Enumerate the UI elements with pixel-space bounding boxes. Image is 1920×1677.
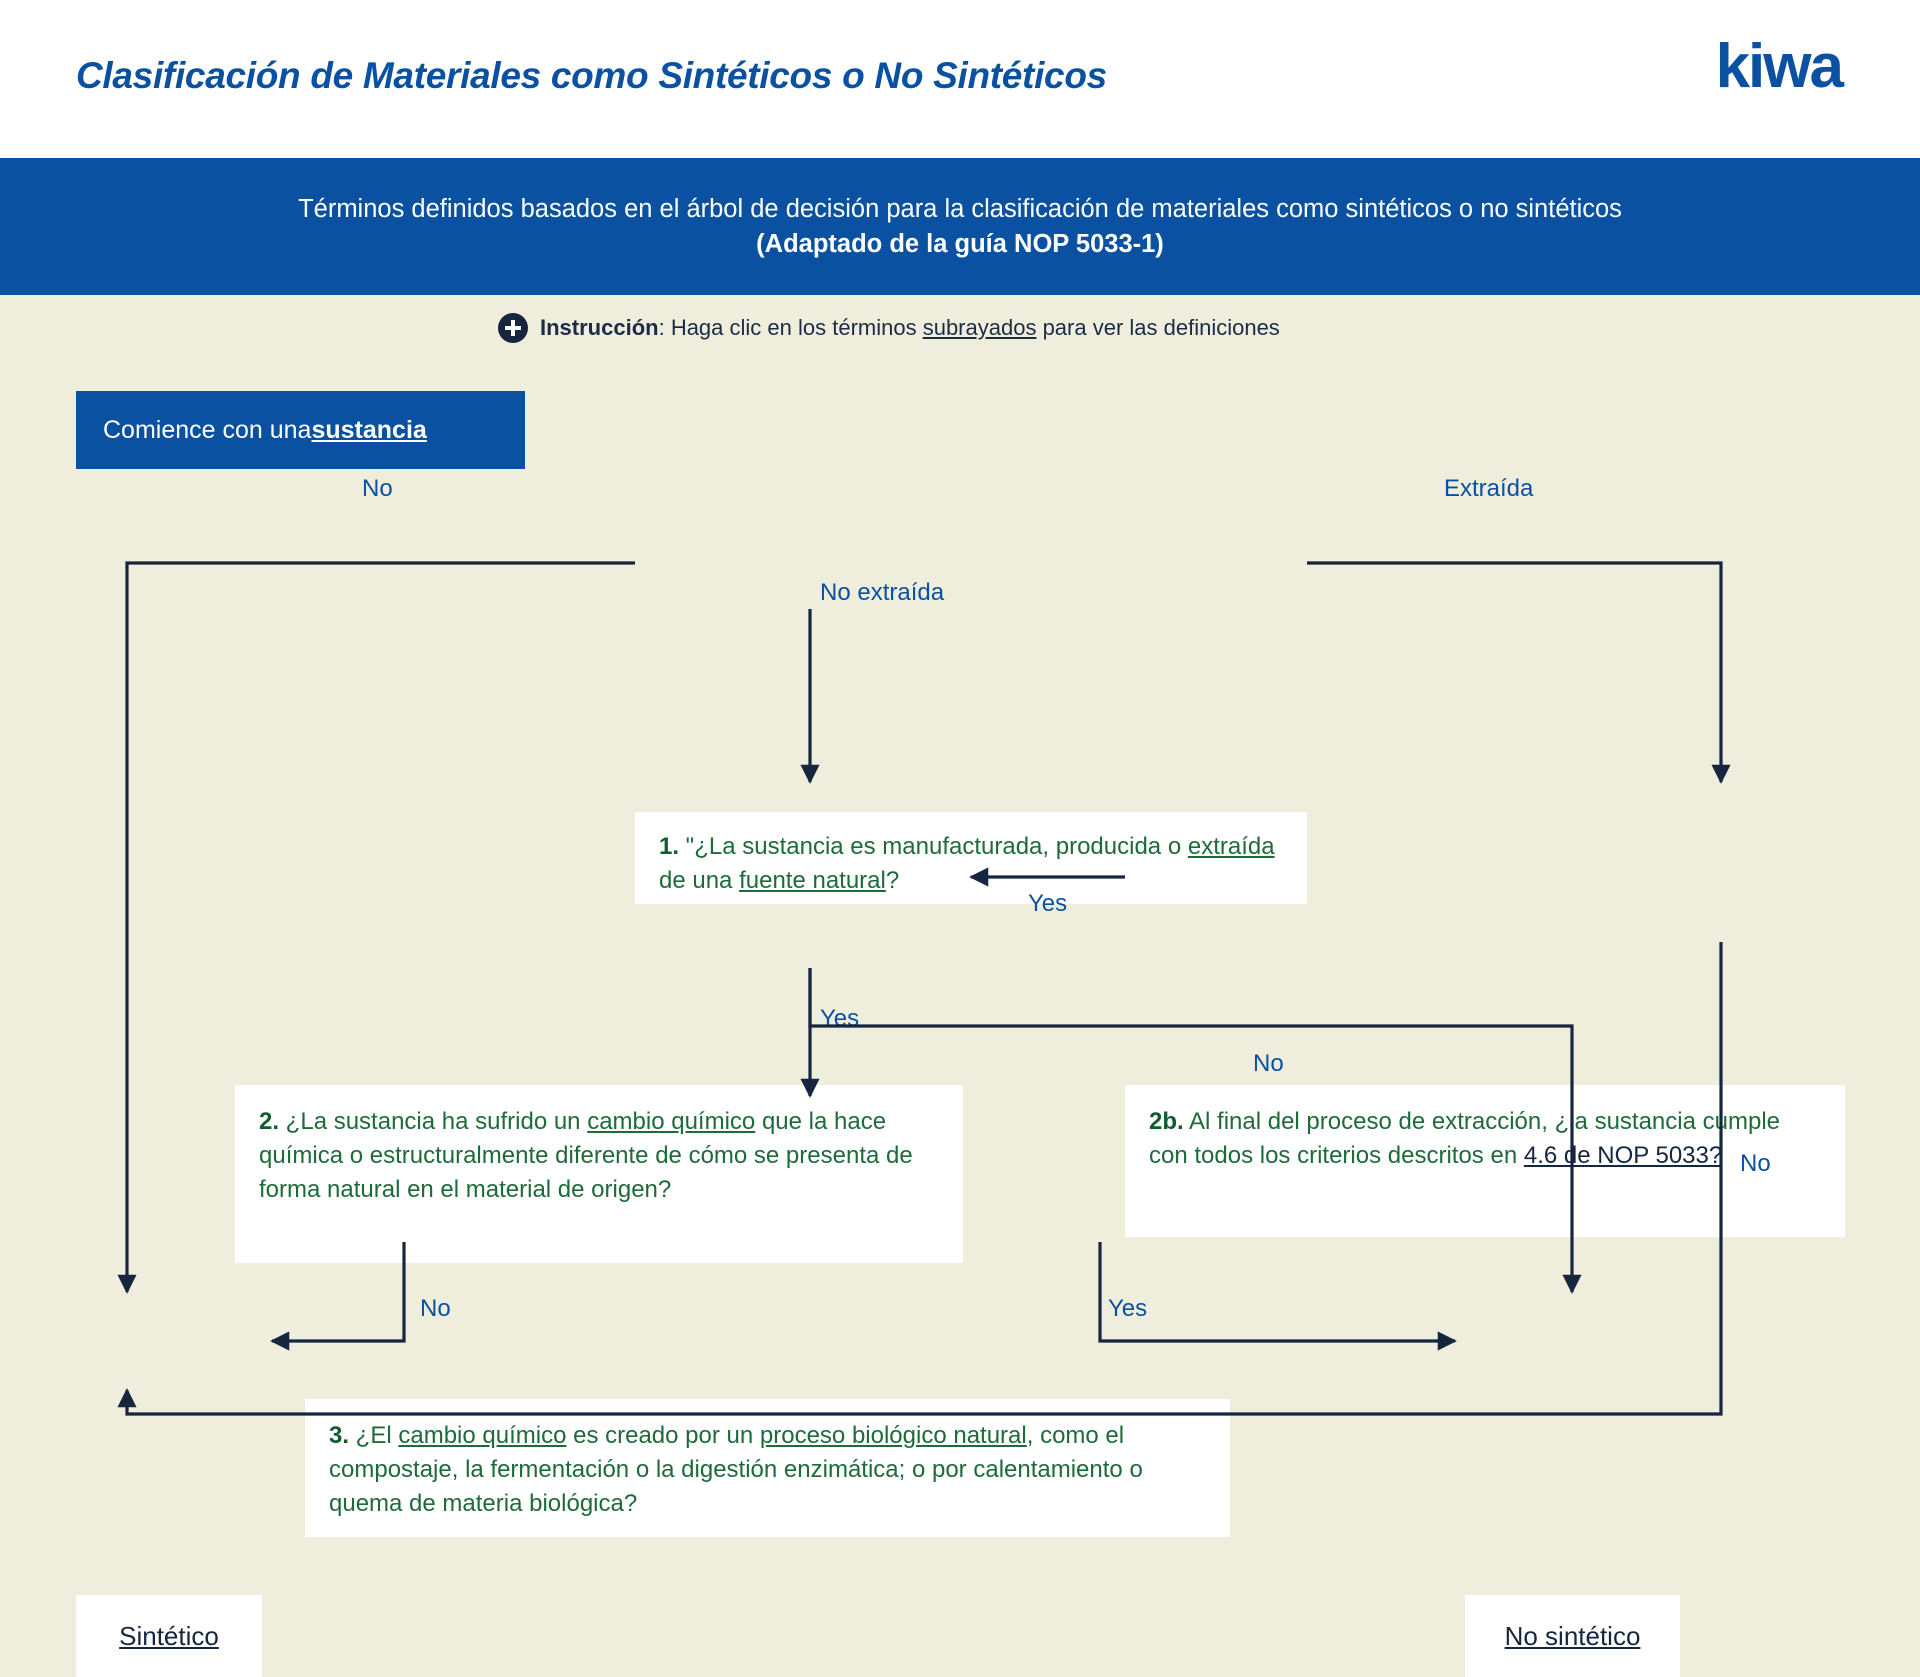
start-prefix: Comience con una <box>103 416 311 445</box>
question-3-seg-2: es creado por un <box>566 1422 759 1449</box>
start-node[interactable]: Comience con una sustancia <box>76 391 525 469</box>
edge-label-q2-yes: Yes <box>820 1005 859 1033</box>
edge-label-q1-extraida: Extraída <box>1444 475 1533 503</box>
page-title: Clasificación de Materiales como Sintéti… <box>76 55 1107 97</box>
edge-label-q1-no: No <box>362 475 393 503</box>
kiwa-logo: kiwa <box>1716 36 1842 98</box>
question-1-seg-2: de una <box>659 867 739 894</box>
subtitle-banner: Términos definidos basados en el árbol d… <box>0 158 1920 295</box>
question-3-number: 3. <box>329 1422 349 1449</box>
edge-label-q3-no: No <box>420 1295 451 1323</box>
question-1-link-extraida[interactable]: extraída <box>1188 833 1275 860</box>
instruction-bar: Instrucción: Haga clic en los términos s… <box>498 313 1280 343</box>
edge-label-q3-yes: Yes <box>1108 1295 1147 1323</box>
outcome-node-non-synthetic[interactable]: No sintético <box>1465 1595 1680 1677</box>
question-2-number: 2. <box>259 1108 279 1135</box>
question-node-2[interactable]: 2. ¿La sustancia ha sufrido un cambio qu… <box>235 1085 963 1263</box>
flowchart-canvas: Instrucción: Haga clic en los términos s… <box>0 295 1920 1465</box>
question-1-seg-0: "¿La sustancia es manufacturada, produci… <box>679 833 1188 860</box>
outcome-node-synthetic[interactable]: Sintético <box>76 1595 262 1677</box>
edge-label-q2b-no: No <box>1253 1050 1284 1078</box>
instruction-link[interactable]: subrayados <box>923 315 1037 340</box>
instruction-separator: : <box>659 315 671 340</box>
instruction-after: para ver las definiciones <box>1036 315 1279 340</box>
edge-label-q2b-yes: Yes <box>1028 890 1067 918</box>
question-2-seg-0: ¿La sustancia ha sufrido un <box>279 1108 587 1135</box>
question-3-link-cambio-quimico[interactable]: cambio químico <box>398 1422 566 1449</box>
start-term-link[interactable]: sustancia <box>311 416 426 445</box>
question-2b-link-nop-5033[interactable]: 4.6 de NOP 5033? <box>1524 1142 1722 1169</box>
banner-line-1: Términos definidos basados en el árbol d… <box>298 192 1622 226</box>
question-2-link-cambio-quimico[interactable]: cambio químico <box>587 1108 755 1135</box>
question-1-seg-4: ? <box>886 867 899 894</box>
question-1-number: 1. <box>659 833 679 860</box>
question-node-1[interactable]: 1. "¿La sustancia es manufacturada, prod… <box>635 812 1307 904</box>
edge-label-q1-no-extraida: No extraída <box>820 579 944 607</box>
outcome-synthetic-label[interactable]: Sintético <box>119 1621 219 1652</box>
question-1-link-fuente-natural[interactable]: fuente natural <box>739 867 886 894</box>
outcome-non-synthetic-label[interactable]: No sintético <box>1505 1621 1641 1652</box>
question-node-2b[interactable]: 2b. Al final del proceso de extracción, … <box>1125 1085 1845 1237</box>
instruction-text: Instrucción: Haga clic en los términos s… <box>540 315 1280 341</box>
question-node-3[interactable]: 3. ¿El cambio químico es creado por un p… <box>305 1399 1230 1537</box>
instruction-before: Haga clic en los términos <box>671 315 923 340</box>
question-3-link-proceso-biologico[interactable]: proceso biológico natural <box>760 1422 1027 1449</box>
question-2b-number: 2b. <box>1149 1108 1184 1135</box>
instruction-label: Instrucción <box>540 315 659 340</box>
plus-circle-icon <box>498 313 528 343</box>
question-3-seg-0: ¿El <box>349 1422 398 1449</box>
page-header: Clasificación de Materiales como Sintéti… <box>0 0 1920 158</box>
banner-line-2: (Adaptado de la guía NOP 5033-1) <box>756 227 1164 261</box>
edge-label-q2b-no-right: No <box>1740 1150 1771 1178</box>
